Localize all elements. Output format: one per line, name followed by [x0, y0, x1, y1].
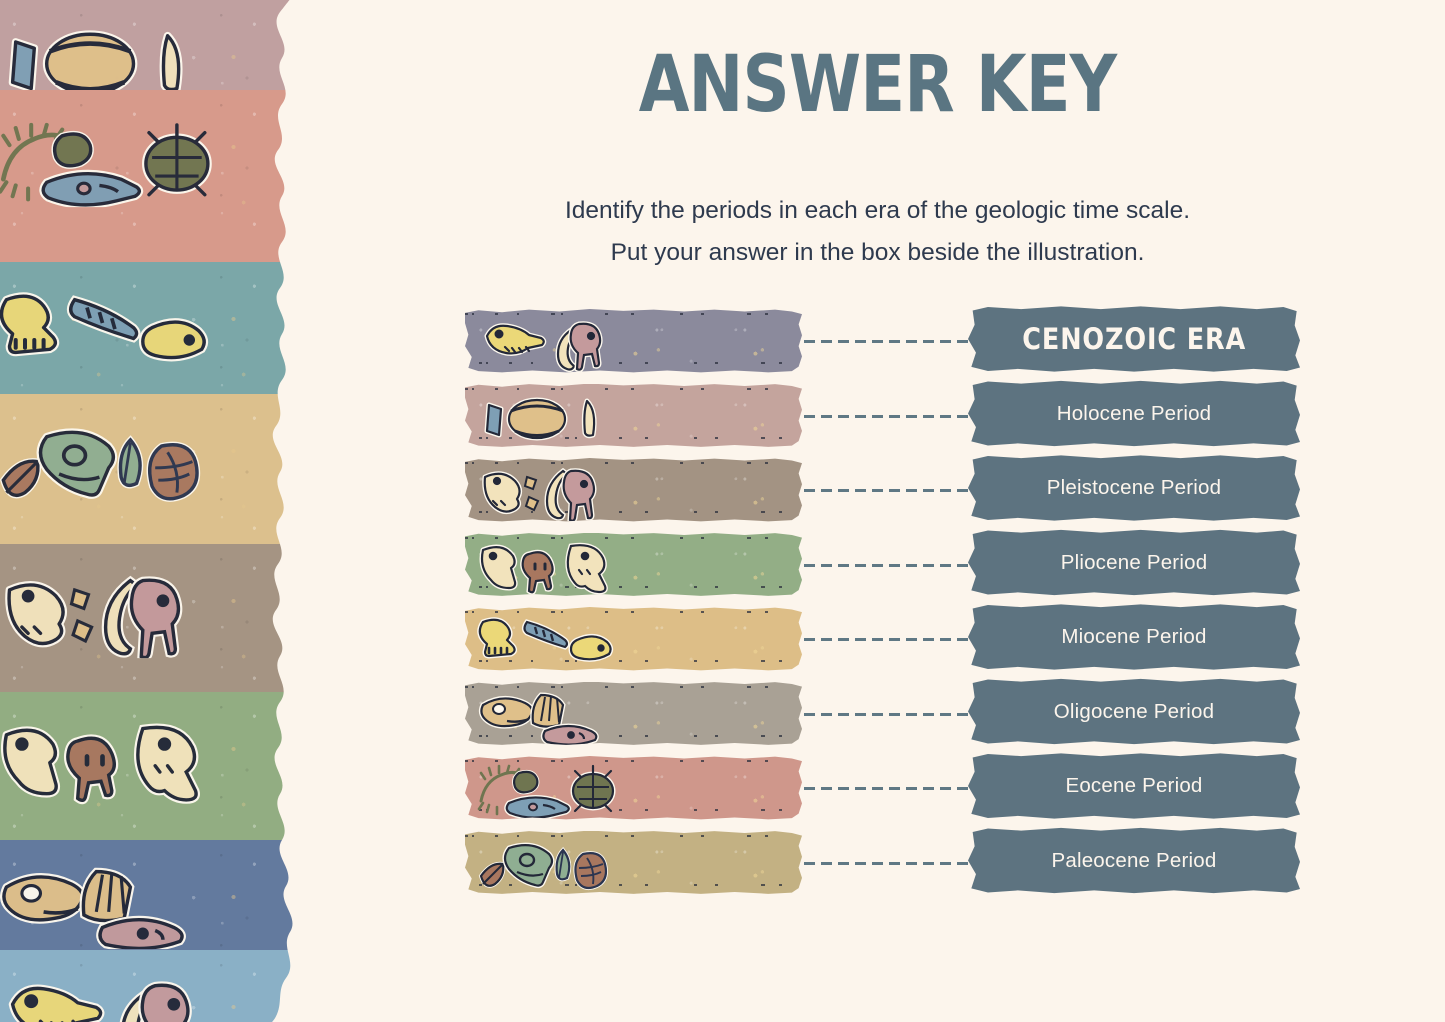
dashed-connector-line [804, 787, 968, 790]
strata-band [0, 90, 310, 262]
answer-rows: CENOZOIC ERA Holocene Period [310, 305, 1445, 901]
strip-rock-layer [465, 682, 802, 746]
strip-rock-layer [465, 458, 802, 522]
fossil-strip-illustration [465, 607, 802, 671]
strata-band [0, 0, 310, 90]
fossil-strip-illustration [465, 756, 802, 820]
answer-label: Pliocene Period [1061, 551, 1208, 575]
strata-illustration-column [0, 0, 310, 1022]
strip-fossil-icons [475, 534, 802, 597]
band-fossil-illustration [0, 111, 219, 215]
strip-fossil-icons [475, 757, 802, 820]
answer-row: Pleistocene Period [310, 454, 1445, 529]
answer-label: Paleocene Period [1051, 849, 1216, 873]
fossil-strip-illustration [465, 384, 802, 448]
strata-band [0, 950, 310, 1022]
fossil-strip-illustration [465, 458, 802, 522]
instruction-line-1: Identify the periods in each era of the … [310, 190, 1445, 232]
answer-row: Pliocene Period [310, 529, 1445, 604]
strip-fossil-icons [475, 310, 802, 373]
strip-fossil-icons [475, 608, 802, 671]
fossil-strip-illustration [465, 309, 802, 373]
answer-label: Pleistocene Period [1047, 476, 1222, 500]
answer-box[interactable]: Pleistocene Period [968, 454, 1300, 522]
dashed-connector-line [804, 638, 968, 641]
dashed-connector-line [804, 862, 968, 865]
answer-box[interactable]: Miocene Period [968, 603, 1300, 671]
fossil-strip-illustration [465, 533, 802, 597]
band-fossil-illustration [0, 853, 219, 950]
dashed-connector-line [804, 340, 968, 343]
fossil-strip-illustration [465, 831, 802, 895]
answer-label: Miocene Period [1061, 625, 1206, 649]
strip-rock-layer [465, 607, 802, 671]
strata-band [0, 394, 310, 544]
strip-fossil-icons [475, 385, 802, 448]
strip-fossil-icons [475, 459, 802, 522]
dashed-connector-line [804, 489, 968, 492]
band-fossil-illustration [0, 11, 219, 90]
strip-fossil-icons [475, 683, 802, 746]
answer-label: CENOZOIC ERA [1022, 322, 1246, 356]
answer-row: Holocene Period [310, 380, 1445, 455]
answer-box[interactable]: Oligocene Period [968, 678, 1300, 746]
band-fossil-illustration [0, 412, 219, 516]
instructions: Identify the periods in each era of the … [310, 190, 1445, 274]
strip-fossil-icons [475, 832, 802, 895]
answer-box[interactable]: Eocene Period [968, 752, 1300, 820]
dashed-connector-line [804, 564, 968, 567]
strip-rock-layer [465, 756, 802, 820]
dashed-connector-line [804, 713, 968, 716]
worksheet-panel: ANSWER KEY Identify the periods in each … [310, 0, 1445, 1022]
strata-band [0, 262, 310, 394]
band-fossil-illustration [0, 964, 219, 1022]
answer-label: Oligocene Period [1054, 700, 1214, 724]
answer-label: Eocene Period [1065, 774, 1202, 798]
strata-band [0, 692, 310, 840]
strata-band [0, 840, 310, 950]
strata-band [0, 544, 310, 692]
answer-box[interactable]: Pliocene Period [968, 529, 1300, 597]
answer-row: Eocene Period [310, 752, 1445, 827]
strip-rock-layer [465, 533, 802, 597]
band-fossil-illustration [0, 278, 219, 382]
era-label-box[interactable]: CENOZOIC ERA [968, 305, 1300, 373]
answer-row: Paleocene Period [310, 827, 1445, 902]
answer-box[interactable]: Paleocene Period [968, 827, 1300, 895]
band-fossil-illustration [0, 710, 219, 814]
dashed-connector-line [804, 415, 968, 418]
answer-row: Oligocene Period [310, 678, 1445, 753]
answer-label: Holocene Period [1057, 402, 1212, 426]
answer-row: Miocene Period [310, 603, 1445, 678]
strip-rock-layer [465, 831, 802, 895]
strip-rock-layer [465, 309, 802, 373]
band-fossil-illustration [0, 562, 219, 666]
fossil-strip-illustration [465, 682, 802, 746]
instruction-line-2: Put your answer in the box beside the il… [310, 232, 1445, 274]
answer-box[interactable]: Holocene Period [968, 380, 1300, 448]
answer-row: CENOZOIC ERA [310, 305, 1445, 380]
page-title: ANSWER KEY [401, 46, 1354, 124]
strip-rock-layer [465, 384, 802, 448]
